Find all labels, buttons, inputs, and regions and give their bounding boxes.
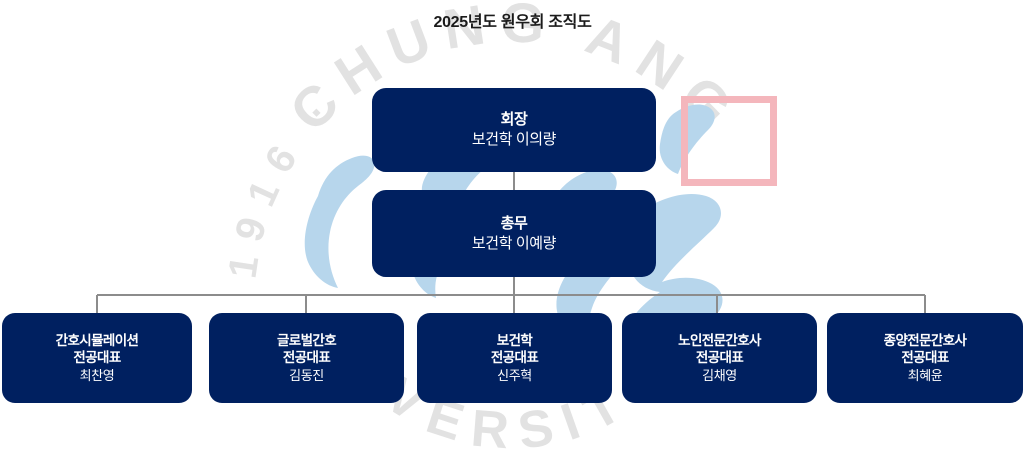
node-president-role: 회장	[501, 110, 528, 130]
node-major-rep-1[interactable]: 간호시뮬레이션 전공대표 최찬영	[2, 313, 192, 403]
node-general-affairs-person: 보건학 이예량	[472, 234, 556, 254]
node-major-rep-3[interactable]: 보건학 전공대표 신주혁	[417, 313, 612, 403]
node-major-rep-5-subrole: 전공대표	[901, 349, 948, 367]
node-major-rep-3-subrole: 전공대표	[491, 349, 538, 367]
node-president-person: 보건학 이의량	[472, 130, 556, 150]
node-major-rep-5-role: 종양전문간호사	[884, 332, 967, 350]
node-major-rep-2[interactable]: 글로벌간호 전공대표 김동진	[209, 313, 404, 403]
node-major-rep-3-role: 보건학	[497, 332, 532, 350]
node-major-rep-5[interactable]: 종양전문간호사 전공대표 최혜윤	[827, 313, 1023, 403]
node-major-rep-2-subrole: 전공대표	[283, 349, 330, 367]
node-major-rep-1-subrole: 전공대표	[73, 349, 120, 367]
watermark-left-arc: 1916 ·	[221, 82, 348, 281]
node-major-rep-2-person: 김동진	[289, 367, 324, 384]
node-major-rep-1-role: 간호시뮬레이션	[56, 332, 139, 350]
node-major-rep-3-person: 신주혁	[497, 367, 532, 384]
node-major-rep-4[interactable]: 노인전문간호사 전공대표 김채영	[622, 313, 817, 403]
page-title: 2025년도 원우회 조직도	[0, 8, 1025, 32]
node-president[interactable]: 회장 보건학 이의량	[372, 88, 656, 172]
node-major-rep-1-person: 최찬영	[80, 367, 115, 384]
node-major-rep-4-role: 노인전문간호사	[678, 332, 761, 350]
node-major-rep-5-person: 최혜윤	[908, 367, 943, 384]
node-major-rep-4-subrole: 전공대표	[696, 349, 743, 367]
node-major-rep-2-role: 글로벌간호	[277, 332, 336, 350]
annotation-highlight-rectangle[interactable]	[681, 96, 777, 186]
node-general-affairs-role: 총무	[501, 214, 528, 234]
node-general-affairs[interactable]: 총무 보건학 이예량	[372, 190, 656, 277]
org-chart-page: CHUNG ANG 1916 · NIVERSIT 2025년도 원우회 조직도	[0, 0, 1025, 472]
node-major-rep-4-person: 김채영	[702, 367, 737, 384]
